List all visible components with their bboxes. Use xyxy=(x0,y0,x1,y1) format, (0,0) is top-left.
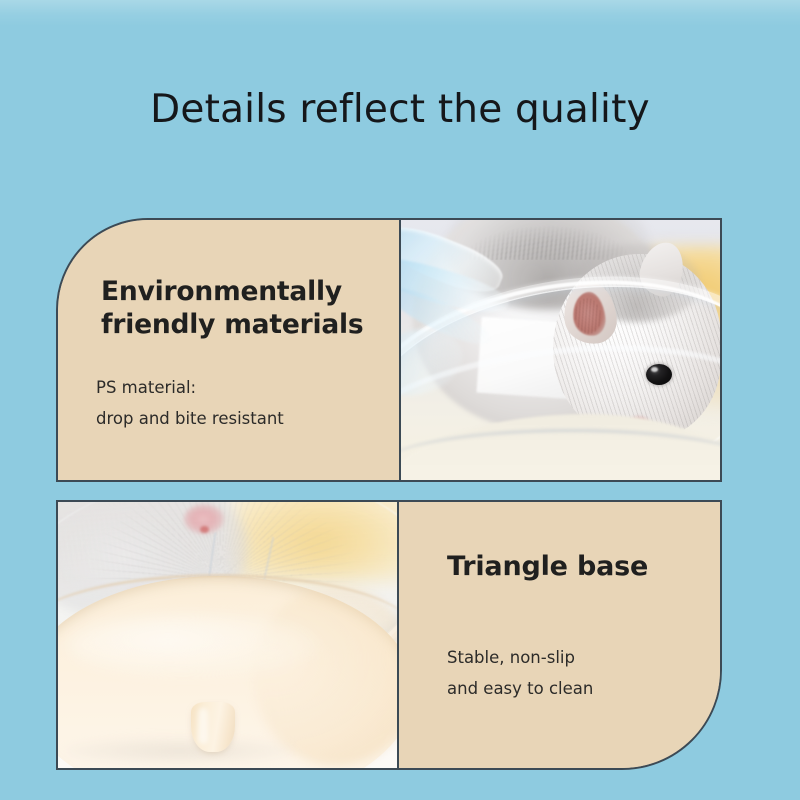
triangle-base-foot-highlight xyxy=(198,708,208,744)
feature-description-line: drop and bite resistant xyxy=(96,403,386,434)
bowl-contact-shadow xyxy=(64,738,294,764)
feature-text-panel: Triangle base Stable, non-slip and easy … xyxy=(399,502,722,768)
product-feature-infographic: Details reflect the quality Environmenta… xyxy=(0,0,800,800)
feature-description: PS material: drop and bite resistant xyxy=(96,372,386,434)
feature-headline: Environmentally friendly materials xyxy=(101,275,396,341)
feature-text-panel: Environmentally friendly materials PS ma… xyxy=(58,220,401,480)
feature-description-line: PS material: xyxy=(96,372,386,403)
background-sheen xyxy=(0,0,800,26)
page-title: Details reflect the quality xyxy=(0,84,800,136)
feature-card-triangle-base: Triangle base Stable, non-slip and easy … xyxy=(56,500,722,770)
feature-description: Stable, non-slip and easy to clean xyxy=(447,642,707,704)
hamster-in-clear-wheel-photo xyxy=(401,220,722,480)
feature-card-environmentally-friendly-materials: Environmentally friendly materials PS ma… xyxy=(56,218,722,482)
feature-description-line: and easy to clean xyxy=(447,673,707,704)
cream-bowl-triangle-foot-photo xyxy=(58,502,399,768)
feature-description-line: Stable, non-slip xyxy=(447,642,707,673)
feature-headline: Triangle base xyxy=(447,550,707,584)
